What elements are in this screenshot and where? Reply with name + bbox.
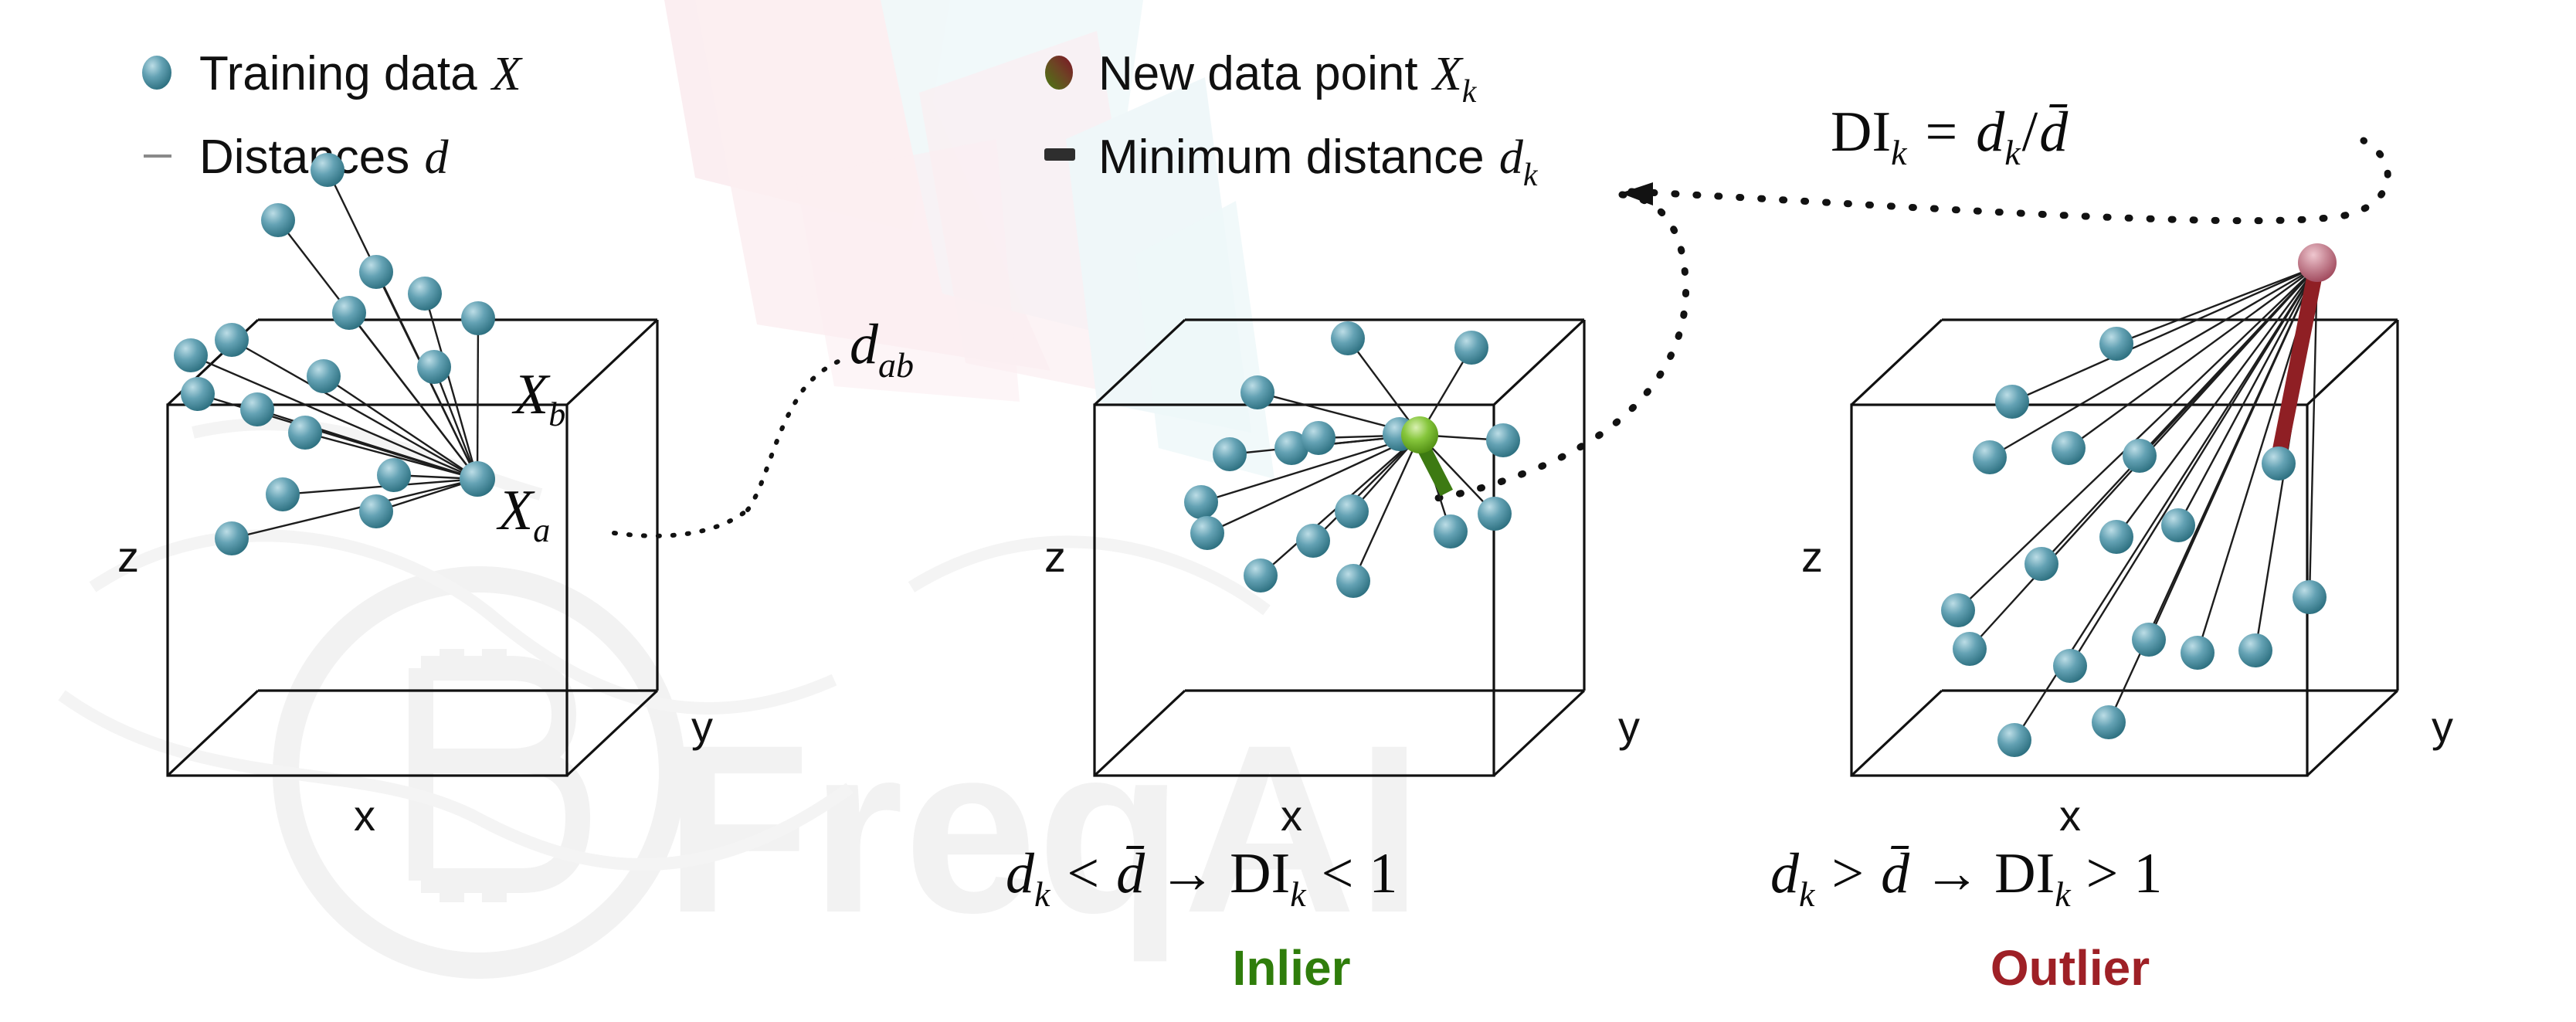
cube-bottom-left-edge [1851, 691, 1942, 776]
axis-label-y-outlier: y [2432, 702, 2453, 751]
panel-outlier: z x y dk>d̄→DIk>1 Outlier [0, 0, 2576, 1022]
data-point [2123, 439, 2157, 473]
data-point-nearest [2262, 446, 2296, 480]
distance-lines-outlier [1958, 267, 2317, 740]
new-data-point-outlier [2298, 243, 2337, 282]
data-point [1997, 723, 2031, 757]
figure-root: FreqAI Training d [0, 0, 2576, 1022]
data-point [2161, 508, 2195, 542]
verdict-outlier: Outlier [1991, 940, 2150, 996]
data-point [1973, 440, 2007, 474]
cube-top-right-edge [2307, 320, 2398, 405]
data-point [2238, 633, 2272, 667]
caption-outlier: dk>d̄→DIk>1 [1770, 842, 2162, 914]
data-point [2053, 649, 2087, 683]
data-point [2099, 327, 2133, 361]
data-point [1953, 632, 1987, 666]
data-point [2024, 547, 2058, 581]
data-point [2181, 636, 2215, 670]
cube-top-left-edge [1851, 320, 1942, 405]
data-point [2092, 705, 2126, 739]
axis-label-x-outlier: x [2059, 791, 2081, 840]
data-point [2052, 431, 2086, 465]
data-point [1941, 593, 1975, 627]
data-point [1995, 385, 2029, 419]
data-point [2293, 580, 2327, 614]
cube-bottom-right-edge [2307, 691, 2398, 776]
training-points-outlier [1941, 327, 2327, 757]
data-point [2132, 623, 2166, 657]
axis-label-z-outlier: z [1801, 532, 1823, 581]
data-point [2099, 520, 2133, 554]
